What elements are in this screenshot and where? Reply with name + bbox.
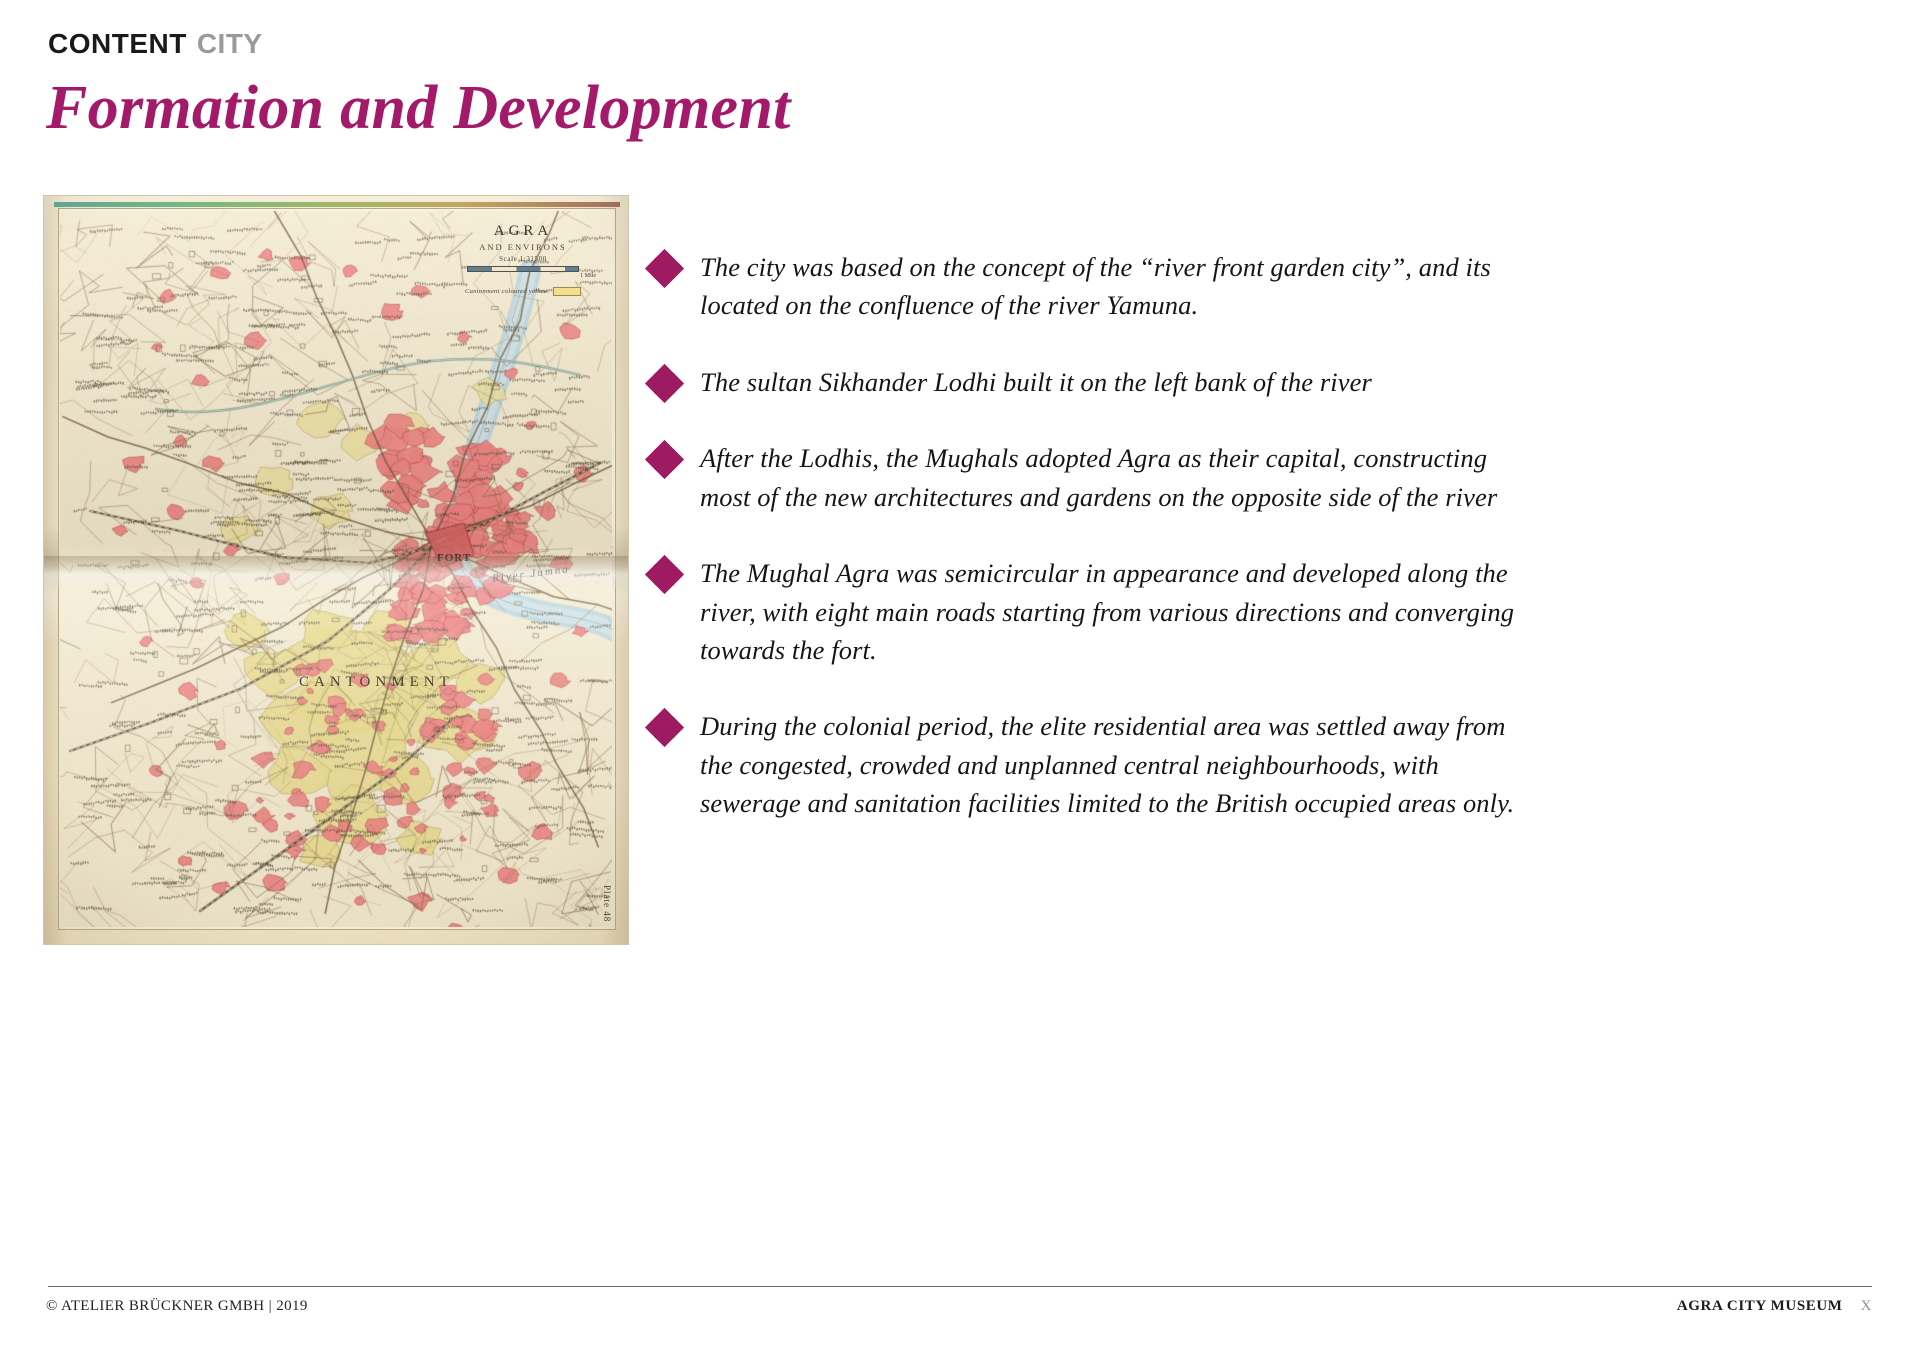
map-label-cantonment: CANTONMENT — [299, 674, 454, 691]
footer-copyright: © ATELIER BRÜCKNER GMBH | 2019 — [46, 1298, 308, 1315]
list-item-text: After the Lodhis, the Mughals adopted Ag… — [700, 439, 1520, 516]
list-item-text: During the colonial period, the elite re… — [700, 707, 1520, 822]
diamond-cluster-icon — [648, 252, 682, 286]
breadcrumb-section: CONTENT — [48, 28, 187, 59]
list-item: During the colonial period, the elite re… — [648, 707, 1520, 822]
list-item: After the Lodhis, the Mughals adopted Ag… — [648, 439, 1520, 516]
diamond-cluster-icon — [648, 443, 682, 477]
list-item: The Mughal Agra was semicircular in appe… — [648, 554, 1520, 669]
diamond-cluster-icon — [648, 558, 682, 592]
footer-project-label: AGRA CITY MUSEUM — [1677, 1298, 1843, 1314]
list-item: The sultan Sikhander Lodhi built it on t… — [648, 363, 1520, 401]
map-label-fort: FORT — [437, 552, 471, 564]
list-item: The city was based on the concept of the… — [648, 248, 1520, 325]
list-item-text: The Mughal Agra was semicircular in appe… — [700, 554, 1520, 669]
page-number: X — [1861, 1298, 1872, 1314]
diamond-cluster-icon — [648, 711, 682, 745]
footer-project: AGRA CITY MUSEUMX — [1677, 1298, 1872, 1315]
map-edge-trim — [54, 202, 620, 207]
diamond-cluster-icon — [648, 367, 682, 401]
historic-map-figure: FORT CANTONMENT River Jumna AGRA AND ENV… — [44, 196, 628, 944]
map-plate-number: Plate 48 — [602, 885, 612, 922]
breadcrumb-subsection: CITY — [197, 28, 263, 59]
list-item-text: The sultan Sikhander Lodhi built it on t… — [700, 363, 1372, 401]
page-title: Formation and Development — [46, 74, 791, 142]
list-item-text: The city was based on the concept of the… — [700, 248, 1520, 325]
breadcrumb: CONTENTCITY — [48, 28, 263, 60]
bullet-list: The city was based on the concept of the… — [648, 248, 1520, 861]
footer-divider — [48, 1286, 1872, 1287]
